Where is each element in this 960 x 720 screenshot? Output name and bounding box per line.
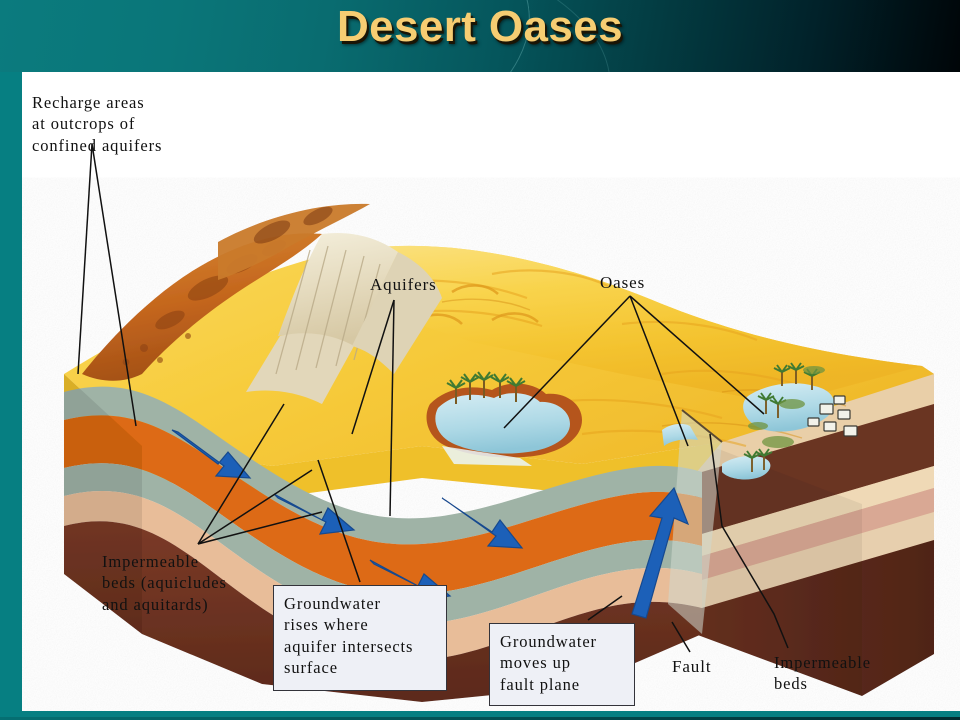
label-fault: Fault (672, 656, 711, 678)
label-impermeable-beds-right: Impermeable beds (774, 652, 871, 695)
label-oases: Oases (600, 272, 645, 294)
slide-canvas: Desert Oases (0, 0, 960, 720)
label-recharge-areas: Recharge areas at outcrops of confined a… (32, 92, 162, 156)
left-border-strip (0, 72, 22, 720)
leader-recharge-a (78, 144, 92, 374)
diagram-svg (22, 74, 960, 711)
label-aquifers: Aquifers (370, 274, 437, 296)
block-diagram-figure: Recharge areas at outcrops of confined a… (22, 74, 960, 711)
page-title: Desert Oases (0, 2, 960, 52)
label-impermeable-beds-left: Impermeable beds (aquicludes and aquitar… (102, 551, 227, 615)
callout-groundwater-rises: Groundwater rises where aquifer intersec… (273, 585, 447, 691)
callout-groundwater-moves-up-fault: Groundwater moves up fault plane (489, 623, 635, 706)
title-banner: Desert Oases (0, 0, 960, 72)
